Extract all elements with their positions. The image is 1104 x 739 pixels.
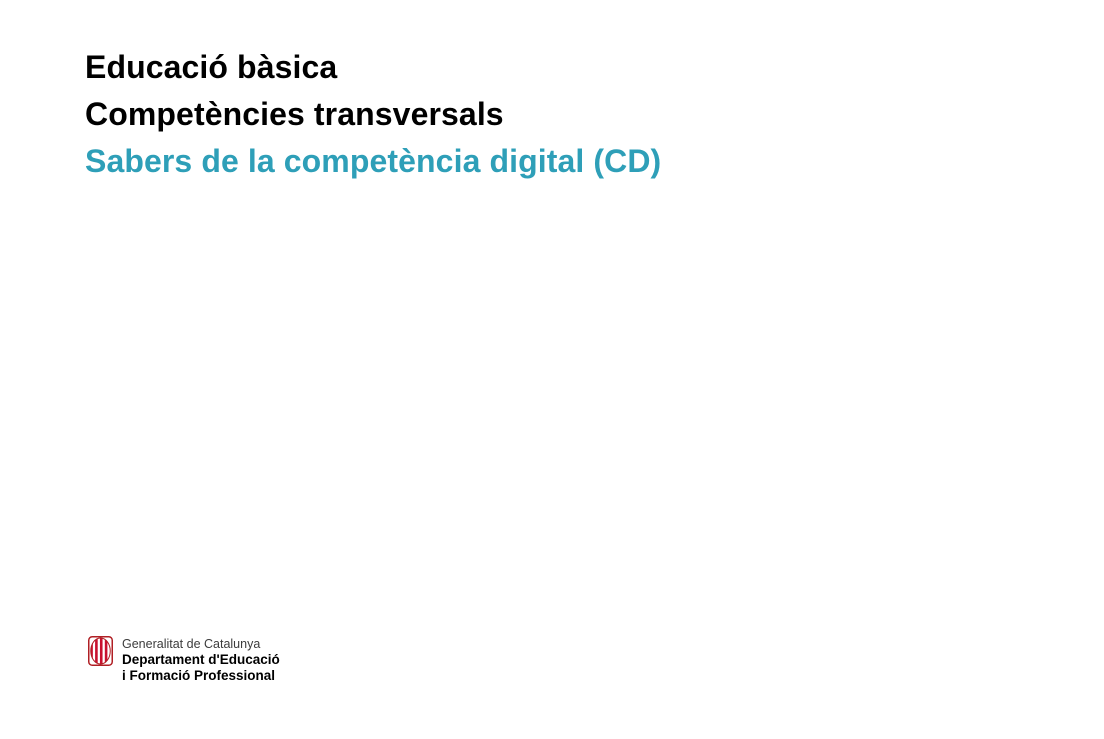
logo-line-department: Departament d'Educació [122,652,280,668]
logo-line-department-cont: i Formació Professional [122,668,280,684]
page-title: Educació bàsica Competències transversal… [85,44,1025,185]
title-line-education-level: Educació bàsica [85,44,1025,91]
title-line-subject: Sabers de la competència digital (CD) [85,138,1025,185]
logo-text-block: Generalitat de Catalunya Departament d'E… [122,636,280,684]
generalitat-shield-icon [88,636,113,666]
logo-line-government: Generalitat de Catalunya [122,637,280,652]
footer-logo: Generalitat de Catalunya Departament d'E… [88,636,280,684]
title-line-competency-area: Competències transversals [85,91,1025,138]
